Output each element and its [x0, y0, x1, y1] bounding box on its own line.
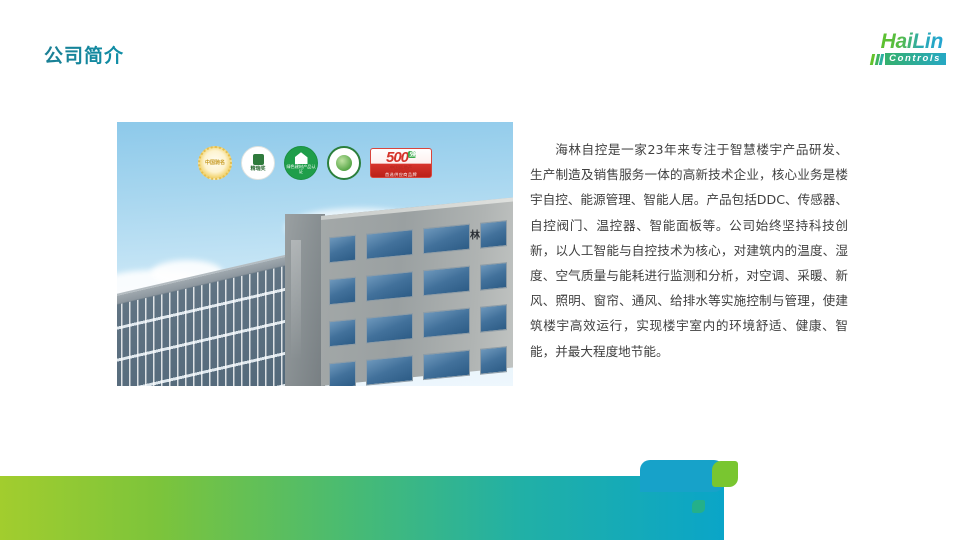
top500-badge: 500强 中国房地产 首选供应商品牌	[370, 148, 432, 178]
jingruibao-label: 精瑞奖	[250, 167, 265, 172]
flower-icon	[253, 154, 264, 165]
green-building-badge: 绿色建材产品认证	[284, 146, 318, 180]
globe-icon	[336, 155, 352, 171]
building-main-block: 海林自控	[321, 197, 513, 386]
decor-square-teal	[692, 500, 705, 513]
window-row	[329, 262, 507, 305]
gold-seal-label: 中国驰名	[205, 161, 225, 166]
top500-number: 500强	[386, 150, 416, 165]
house-icon	[295, 152, 308, 164]
top500-sub1: 中国房地产	[390, 166, 413, 171]
window-row	[329, 304, 507, 347]
gold-seal-badge: 中国驰名	[198, 146, 232, 180]
top500-sup: 强	[408, 151, 416, 158]
page-title: 公司简介	[44, 41, 124, 68]
environment-emblem-badge	[327, 146, 361, 180]
hailin-controls-logo: HaiLin Controls	[820, 28, 946, 68]
slide-root: 公司简介 HaiLin Controls 海林自控	[0, 0, 960, 540]
footer-gradient-bar	[0, 476, 724, 540]
decor-square-green	[712, 461, 738, 487]
company-building-photo: 海林自控 中国驰名 精瑞奖 绿色建材产品认证	[117, 122, 513, 386]
bars-icon	[871, 54, 883, 65]
brand-subrow: Controls	[871, 53, 946, 65]
jingruibao-badge: 精瑞奖	[241, 146, 275, 180]
window-grid	[329, 220, 507, 379]
certification-badges: 中国驰名 精瑞奖 绿色建材产品认证 500强 中国房地产 首选供应商品牌	[117, 146, 513, 180]
top500-sub2: 首选供应商品牌	[385, 173, 417, 177]
building-connector	[285, 214, 325, 386]
brand-wordmark: HaiLin	[881, 31, 946, 52]
window-row	[329, 220, 507, 263]
brand-subtitle: Controls	[885, 53, 946, 65]
green-building-label: 绿色建材产品认证	[285, 165, 317, 173]
company-intro-paragraph: 海林自控是一家23年来专注于智慧楼宇产品研发、生产制造及销售服务一体的高新技术企…	[530, 137, 848, 364]
